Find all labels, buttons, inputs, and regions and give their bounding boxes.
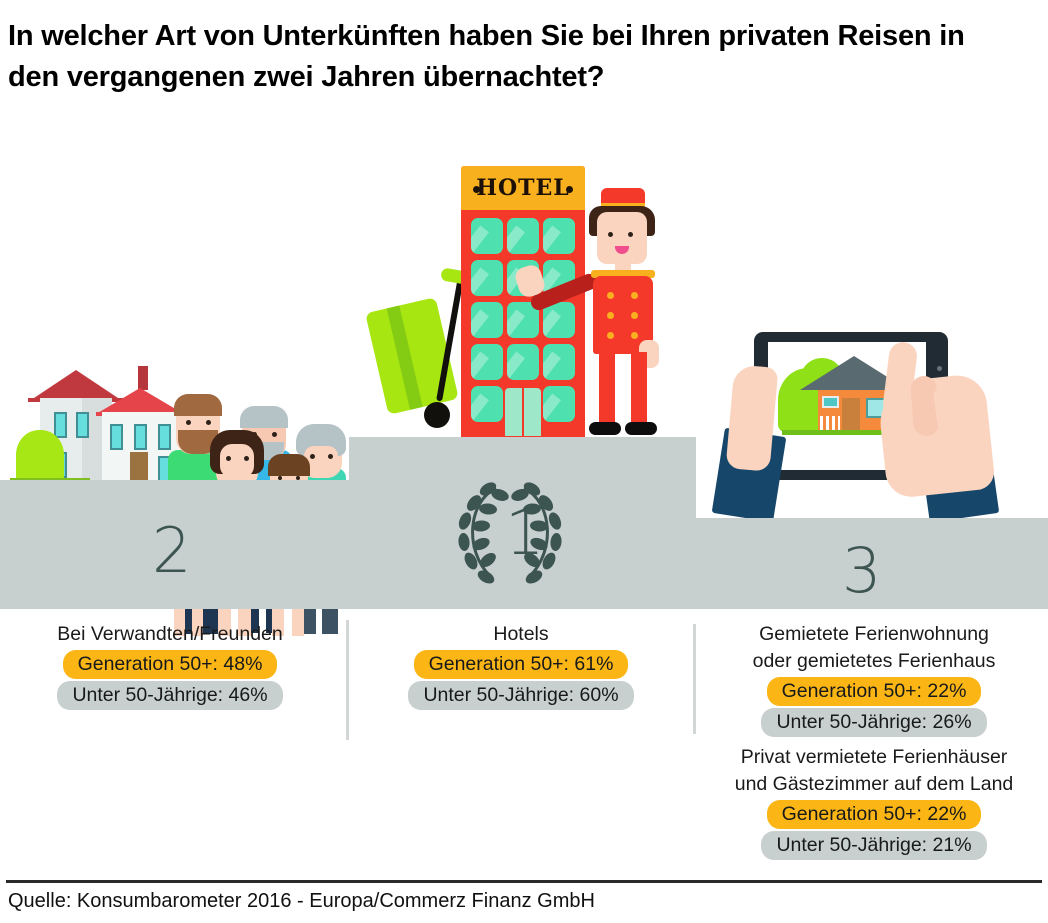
hotel-window-icon <box>471 302 503 338</box>
column-divider <box>693 624 696 734</box>
hotel-door-icon <box>505 388 541 436</box>
podium-rank-2: 2 <box>152 520 191 582</box>
hotel-building-with-bellhop-illustration: HOTEL <box>349 150 696 450</box>
category-name-line2: und Gästezimmer auf dem Land <box>700 772 1048 797</box>
stat-badge-generation50plus: Generation 50+: 22% <box>767 677 982 706</box>
podium-rank-3: 3 <box>842 540 881 602</box>
category-name-line1: Gemietete Ferienwohnung <box>700 622 1048 647</box>
category-column-rentals: Gemietete Ferienwohnung oder gemietetes … <box>700 622 1048 861</box>
category-name-line2: oder gemietetes Ferienhaus <box>700 649 1048 674</box>
hotel-window-icon <box>543 302 575 338</box>
hotel-window-icon <box>543 344 575 380</box>
category-column-relatives: Bei Verwandten/Freunden Generation 50+: … <box>0 622 340 711</box>
bellhop-leg-right <box>631 352 647 426</box>
hotel-window-icon <box>507 218 539 254</box>
hotel-window-icon <box>543 218 575 254</box>
bellhop-face <box>597 212 647 264</box>
footer-divider <box>6 880 1042 883</box>
stat-badge-generation50plus: Generation 50+: 48% <box>63 650 278 679</box>
stat-badge-generation50plus: Generation 50+: 22% <box>767 800 982 829</box>
category-column-hotels: Hotels Generation 50+: 61% Unter 50-Jähr… <box>352 622 690 711</box>
family-group-illustration <box>0 150 349 480</box>
category-name: Hotels <box>352 622 690 647</box>
bellhop-shoe-right <box>625 422 657 435</box>
stat-badge-under50: Unter 50-Jährige: 26% <box>761 708 986 737</box>
page-title: In welcher Art von Unterkünften haben Si… <box>8 16 968 98</box>
source-note: Quelle: Konsumbarometer 2016 - Europa/Co… <box>8 890 595 913</box>
hotel-window-icon <box>471 344 503 380</box>
category-labels: Bei Verwandten/Freunden Generation 50+: … <box>0 612 1048 874</box>
hotel-sign-text: HOTEL <box>461 166 585 210</box>
category-name: Bei Verwandten/Freunden <box>0 622 340 647</box>
column-divider <box>346 620 349 740</box>
hotel-window-icon <box>507 344 539 380</box>
stat-badge-generation50plus: Generation 50+: 61% <box>414 650 629 679</box>
holiday-house-door-icon <box>842 398 860 432</box>
hotel-window-icon <box>543 386 575 422</box>
podium-rank-1: 1 <box>505 502 544 564</box>
stat-badge-under50: Unter 50-Jährige: 46% <box>57 681 282 710</box>
house-and-family-illustration <box>0 150 349 480</box>
category-name-line1: Privat vermietete Ferienhäuser <box>700 745 1048 770</box>
infographic-root: In welcher Art von Unterkünften haben Si… <box>0 0 1048 923</box>
hotel-sign: HOTEL <box>461 166 585 210</box>
illustration-stage: HOTEL <box>0 150 1048 610</box>
bellhop-shoe-left <box>589 422 621 435</box>
stat-badge-under50: Unter 50-Jährige: 60% <box>408 681 633 710</box>
bellhop-person-illustration <box>577 188 673 446</box>
category-subgroup-private-rentals: Privat vermietete Ferienhäuser und Gäste… <box>700 745 1048 861</box>
left-hand <box>726 364 779 471</box>
holiday-house-window-icon <box>822 396 839 408</box>
hotel-window-icon <box>471 260 503 296</box>
stat-badge-under50: Unter 50-Jährige: 21% <box>761 831 986 860</box>
bellhop-leg-left <box>599 352 615 426</box>
suitcase-wheel-icon <box>424 402 450 428</box>
hotel-window-icon <box>471 386 503 422</box>
tablet-camera-icon <box>937 366 942 371</box>
hands-holding-tablet-illustration <box>696 150 1048 518</box>
hotel-window-icon <box>471 218 503 254</box>
